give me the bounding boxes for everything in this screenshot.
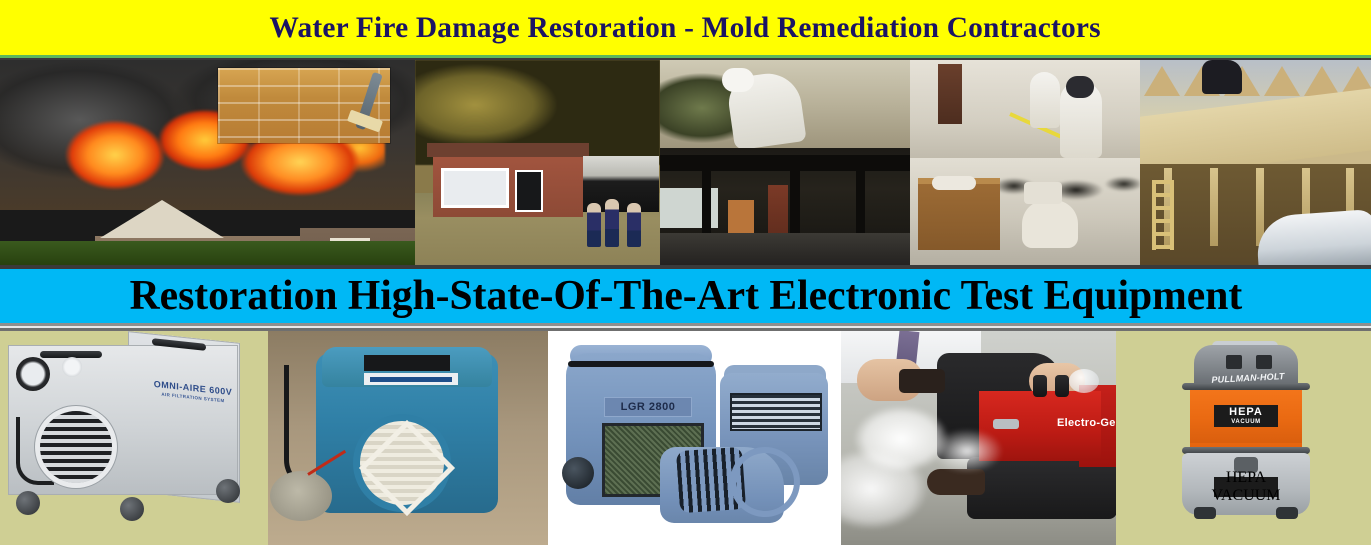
caster-wheel [120, 497, 144, 521]
hepa-badge-title: HEPA [1226, 469, 1266, 487]
bay-window [441, 168, 509, 208]
vacuum-foot [1194, 507, 1216, 519]
front-lawn [0, 241, 415, 265]
vacuum-foot [1276, 507, 1298, 519]
sub-headline-banner: Restoration High-State-Of-The-Art Electr… [0, 269, 1371, 323]
debris-floor [660, 233, 910, 265]
blower-fan-grille [736, 453, 794, 511]
front-door [515, 170, 543, 212]
disaster-photo-collage [0, 60, 1371, 265]
cord-wrap-strap [568, 361, 714, 367]
caster-wheel [16, 491, 40, 515]
roof-truss [1144, 66, 1180, 96]
fogger-tank-cap [1069, 369, 1099, 393]
photo-burning-house [0, 60, 415, 265]
fog-plume [841, 389, 1021, 529]
remediation-worker [1030, 72, 1060, 128]
top-headline-banner: Water Fire Damage Restoration - Mold Rem… [0, 0, 1371, 55]
roofer-worker [1202, 60, 1242, 94]
power-switch-icon [1226, 355, 1242, 369]
sink-basin [932, 176, 976, 190]
power-switch-icon [1256, 355, 1272, 369]
hepa-badge-title: HEPA [1229, 407, 1263, 418]
hepa-badge-upper: HEPA VACUUM [1214, 405, 1278, 427]
roof-truss [1264, 66, 1300, 96]
photo-fire-damaged-interior [660, 60, 910, 265]
equipment-lgr-dehumidifier: LGR 2800 [548, 331, 841, 545]
fogger-brand-label: Electro-Gen [1057, 417, 1116, 429]
resident-figure [587, 203, 601, 247]
control-knob-icon [62, 357, 82, 377]
respirator-hood-icon [1066, 76, 1094, 98]
equipment-thermal-fogger: Electro-Gen [841, 331, 1116, 545]
doorway [938, 64, 962, 124]
transport-wheel [562, 457, 594, 489]
caster-wheel [216, 479, 240, 503]
hepa-badge-lower: HEPA VACUUM [1214, 477, 1278, 497]
fogger-knob-icon [1055, 375, 1069, 397]
charred-post [856, 160, 865, 240]
equipment-hepa-vacuum: PULLMAN-HOLT HEPA VACUUM HEPA VACUUM [1116, 331, 1371, 545]
mold-brick-inset-photo [218, 68, 390, 143]
equipment-photo-row: OMNI-AIRE 600V AIR FILTRATION SYSTEM [0, 331, 1371, 545]
equipment-air-scrubber: OMNI-AIRE 600V AIR FILTRATION SYSTEM [0, 331, 268, 545]
wall-stud [1210, 168, 1218, 246]
pressure-gauge-icon [16, 357, 50, 391]
page-title: Water Fire Damage Restoration - Mold Rem… [270, 13, 1101, 43]
page-root: Water Fire Damage Restoration - Mold Rem… [0, 0, 1371, 545]
hepa-badge-subtitle: VACUUM [1211, 487, 1280, 505]
house-gable-roof [100, 200, 224, 238]
model-badge: LGR 2800 [604, 397, 692, 417]
sub-page-title: Restoration High-State-Of-The-Art Electr… [129, 275, 1242, 317]
resident-figure [605, 199, 619, 247]
resident-figure [627, 203, 641, 247]
control-panel [364, 355, 450, 371]
charred-post [790, 160, 800, 238]
intake-vent [40, 411, 112, 483]
charred-beam [660, 155, 910, 171]
toilet [1022, 200, 1078, 248]
ladder [1152, 180, 1174, 250]
photo-mold-remediation [910, 60, 1140, 265]
model-label: LGR 2800 [621, 401, 676, 413]
hazmat-hood [722, 68, 754, 92]
photo-flooded-house [415, 60, 660, 265]
fogger-knob-icon [1033, 375, 1047, 397]
drum-clamp-band [1182, 383, 1310, 390]
house-roofline [427, 143, 589, 157]
photo-reconstruction-framing [1140, 60, 1371, 265]
toilet-tank [1024, 182, 1062, 204]
hepa-badge-subtitle: VACUUM [1231, 419, 1261, 425]
brand-badge [364, 373, 458, 385]
air-mover-grille [730, 393, 822, 431]
equipment-blue-air-scrubber [268, 331, 548, 545]
hepa-intake-ring [360, 421, 444, 505]
floor-plate [270, 471, 332, 521]
roof-truss [1304, 66, 1340, 96]
charred-post [702, 160, 711, 235]
